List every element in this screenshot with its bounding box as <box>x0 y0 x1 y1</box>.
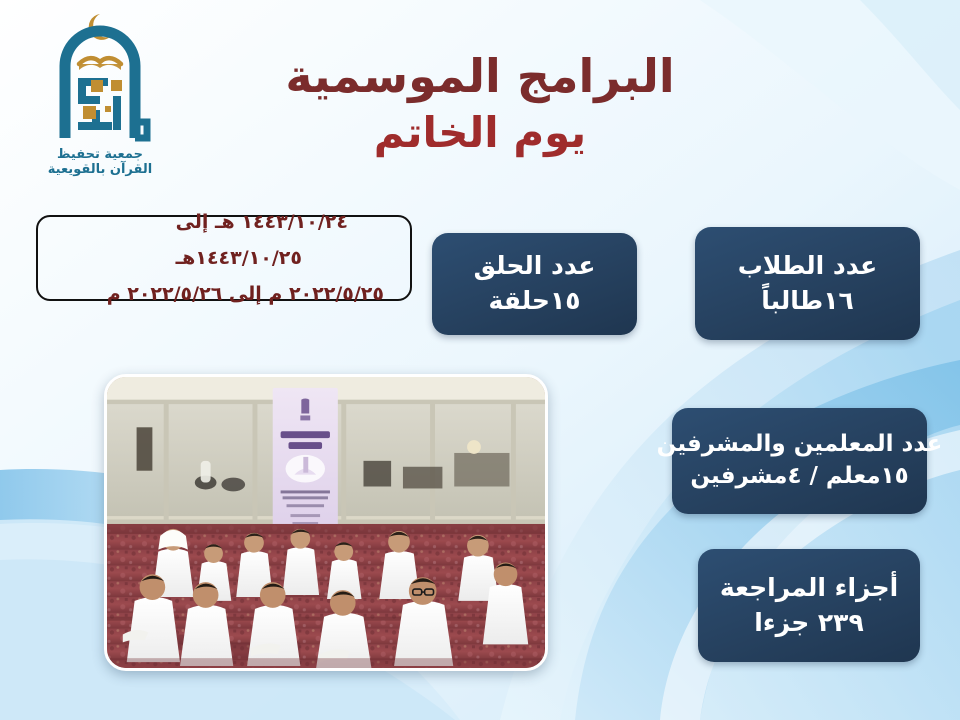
mosque-arch-quran-logo-icon <box>45 10 155 145</box>
date-line-hijri-end: ١٤٤٣/١٠/٢٥هـ <box>176 247 302 269</box>
logo-caption-line-2: القرآن بالقويعية <box>20 162 180 177</box>
event-photo <box>104 374 548 671</box>
stat-value-teachers: ١٥معلم / ٤مشرفين <box>690 462 908 491</box>
stat-value-halaqat: ١٥حلقة <box>489 285 581 316</box>
stat-card-reviewed-parts: أجزاء المراجعة ٢٣٩ جزءا <box>698 549 920 662</box>
date-line-hijri-start: ١٤٤٣/١٠/٢٤ هـ إلى <box>176 211 348 233</box>
stat-label-halaqat: عدد الحلق <box>474 251 596 281</box>
stat-label-students: عدد الطلاب <box>738 251 877 281</box>
event-date-box: ١٤٤٣/١٠/٢٤ هـ إلى ١٤٤٣/١٠/٢٥هـ ٢٠٢٢/٥/٢٥… <box>36 215 412 301</box>
title-sub: يوم الخاتم <box>250 111 710 156</box>
stat-card-halaqat: عدد الحلق ١٥حلقة <box>432 233 637 335</box>
stat-value-parts: ٢٣٩ جزءا <box>754 607 863 638</box>
page-title: البرامج الموسمية يوم الخاتم <box>250 52 710 155</box>
stat-card-teachers: عدد المعلمين والمشرفين ١٥معلم / ٤مشرفين <box>672 408 927 514</box>
title-main: البرامج الموسمية <box>250 52 710 101</box>
logo-caption-line-1: جمعية تحفيظ <box>20 147 180 162</box>
stat-card-students: عدد الطلاب ١٦طالباً <box>695 227 920 340</box>
date-line-gregorian: ٢٠٢٢/٥/٢٥ م إلى ٢٠٢٢/٥/٢٦ م <box>107 283 384 305</box>
stat-label-teachers: عدد المعلمين والمشرفين <box>657 431 943 459</box>
slide-canvas: جمعية تحفيظ القرآن بالقويعية البرامج الم… <box>0 0 960 720</box>
logo-caption: جمعية تحفيظ القرآن بالقويعية <box>20 147 180 178</box>
organization-logo: جمعية تحفيظ القرآن بالقويعية <box>20 10 180 178</box>
stat-label-parts: أجزاء المراجعة <box>720 573 898 603</box>
stat-value-students: ١٦طالباً <box>761 285 853 316</box>
